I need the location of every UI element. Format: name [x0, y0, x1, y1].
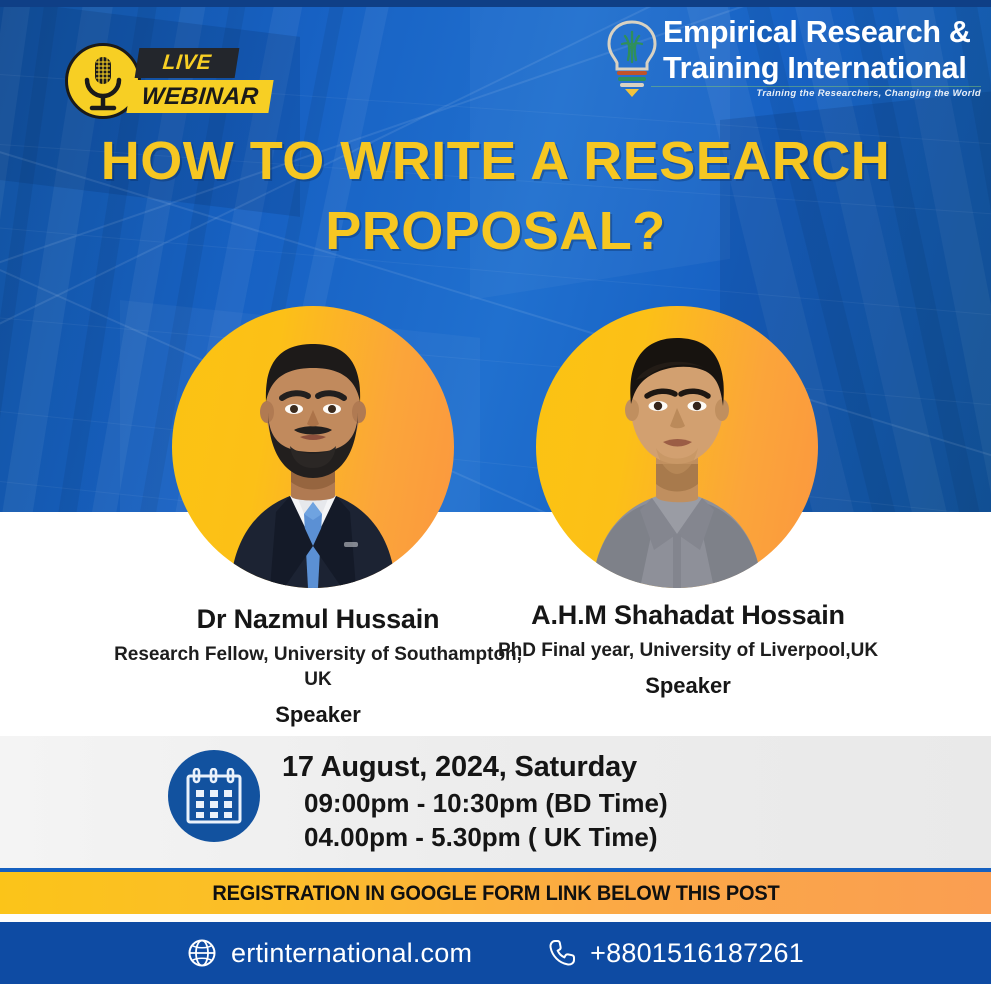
speaker-photo-nazmul-hussain [172, 306, 454, 588]
schedule-info: 17 August, 2024, Saturday 09:00pm - 10:3… [282, 748, 842, 854]
calendar-icon [185, 768, 243, 826]
logo-tagline: Training the Researchers, Changing the W… [709, 88, 981, 99]
live-label: LIVE [136, 48, 239, 78]
footer-website[interactable]: ertinternational.com [187, 938, 472, 969]
microphone-icon [76, 55, 130, 113]
poster-title: HOW TO WRITE A RESEARCH PROPOSAL? [0, 126, 991, 266]
speaker-name-2: A.H.M Shahadat Hossain [478, 598, 898, 632]
footer-bar: ertinternational.com +8801516187261 [0, 922, 991, 984]
portrait-illustration-1 [172, 306, 454, 588]
top-strip [0, 0, 991, 7]
speaker-affiliation-2: PhD Final year, University of Liverpool,… [478, 638, 898, 663]
schedule-time-bd: 09:00pm - 10:30pm (BD Time) [282, 786, 842, 820]
globe-icon [187, 938, 217, 968]
speaker-name-1: Dr Nazmul Hussain [108, 602, 528, 636]
footer-phone[interactable]: +8801516187261 [548, 938, 804, 969]
schedule-time-uk: 04.00pm - 5.30pm ( UK Time) [282, 820, 842, 854]
organization-logo: Empirical Research & Training Internatio… [591, 8, 983, 114]
schedule-date: 17 August, 2024, Saturday [282, 748, 842, 786]
webinar-label-bar: WEBINAR [126, 80, 273, 113]
logo-divider [651, 86, 981, 87]
portrait-illustration-2 [536, 306, 818, 588]
logo-line-1: Empirical Research & [663, 14, 981, 50]
speaker-info-1: Dr Nazmul Hussain Research Fellow, Unive… [108, 602, 528, 729]
logo-text: Empirical Research & Training Internatio… [663, 14, 981, 86]
footer-phone-text: +8801516187261 [590, 938, 804, 969]
calendar-badge [168, 750, 260, 842]
banner-gap [0, 914, 991, 922]
webinar-poster: LIVE WEBINAR Empirical Research & Traini… [0, 0, 991, 984]
speaker-photo-shahadat-hossain [536, 306, 818, 588]
live-webinar-badge: LIVE WEBINAR [57, 40, 247, 122]
registration-text: REGISTRATION IN GOOGLE FORM LINK BELOW T… [212, 881, 779, 906]
registration-banner[interactable]: REGISTRATION IN GOOGLE FORM LINK BELOW T… [0, 872, 991, 914]
title-line-2: PROPOSAL? [0, 196, 991, 266]
webinar-label: WEBINAR [128, 80, 273, 113]
speaker-role-1: Speaker [108, 701, 528, 729]
lightbulb-icon [601, 18, 663, 100]
logo-line-2: Training International [663, 50, 981, 86]
speaker-affiliation-1: Research Fellow, University of Southampt… [108, 642, 528, 692]
title-line-1: HOW TO WRITE A RESEARCH [101, 131, 891, 191]
footer-website-text: ertinternational.com [231, 938, 472, 969]
phone-icon [548, 939, 576, 967]
speaker-info-2: A.H.M Shahadat Hossain PhD Final year, U… [478, 598, 898, 700]
speaker-role-2: Speaker [478, 672, 898, 700]
live-label-bar: LIVE [135, 48, 240, 78]
